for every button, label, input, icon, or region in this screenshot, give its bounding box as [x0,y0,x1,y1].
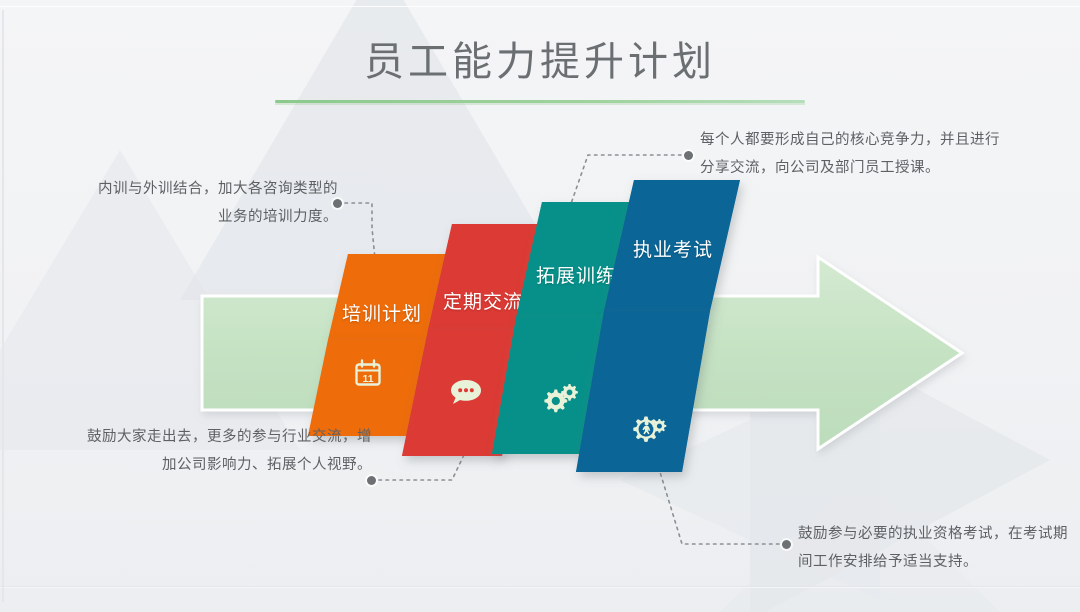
step-4-label: 执业考试 [633,235,713,262]
page-title: 员工能力提升计划 [350,38,730,92]
step-4-icon-box [582,400,718,460]
note-bottom-right-dot [782,540,791,549]
note-top-right-dot [684,151,693,160]
bottom-divider [0,586,1080,588]
title-block: 员工能力提升计划 [0,38,1080,92]
calendar-icon: 11 [351,357,385,391]
slide-canvas: 员工能力提升计划 [0,0,1080,612]
left-edge [2,10,4,602]
gears-icon [539,379,581,417]
calendar-icon-day: 11 [362,373,373,385]
speech-bubble-icon [447,375,485,409]
top-divider [0,6,1080,7]
note-top-right: 每个人都要形成自己的核心竞争力，并且进行分享交流，向公司及部门员工授课。 [700,126,1000,182]
person-in-gear-icon [628,410,672,450]
note-bottom-left-dot [367,476,376,485]
title-underline-shadow [275,103,805,105]
note-bottom-right: 鼓励参与必要的执业资格考试，在考试期间工作安排给予适当支持。 [798,520,1068,576]
note-bottom-left: 鼓励大家走出去，更多的参与行业交流，增加公司影响力、拓展个人视野。 [86,423,372,479]
note-top-left-dot [333,199,342,208]
note-top-left: 内训与外训结合，加大各咨询类型的业务的培训力度。 [88,175,338,231]
step-4-label-box[interactable]: 执业考试 [600,182,746,272]
